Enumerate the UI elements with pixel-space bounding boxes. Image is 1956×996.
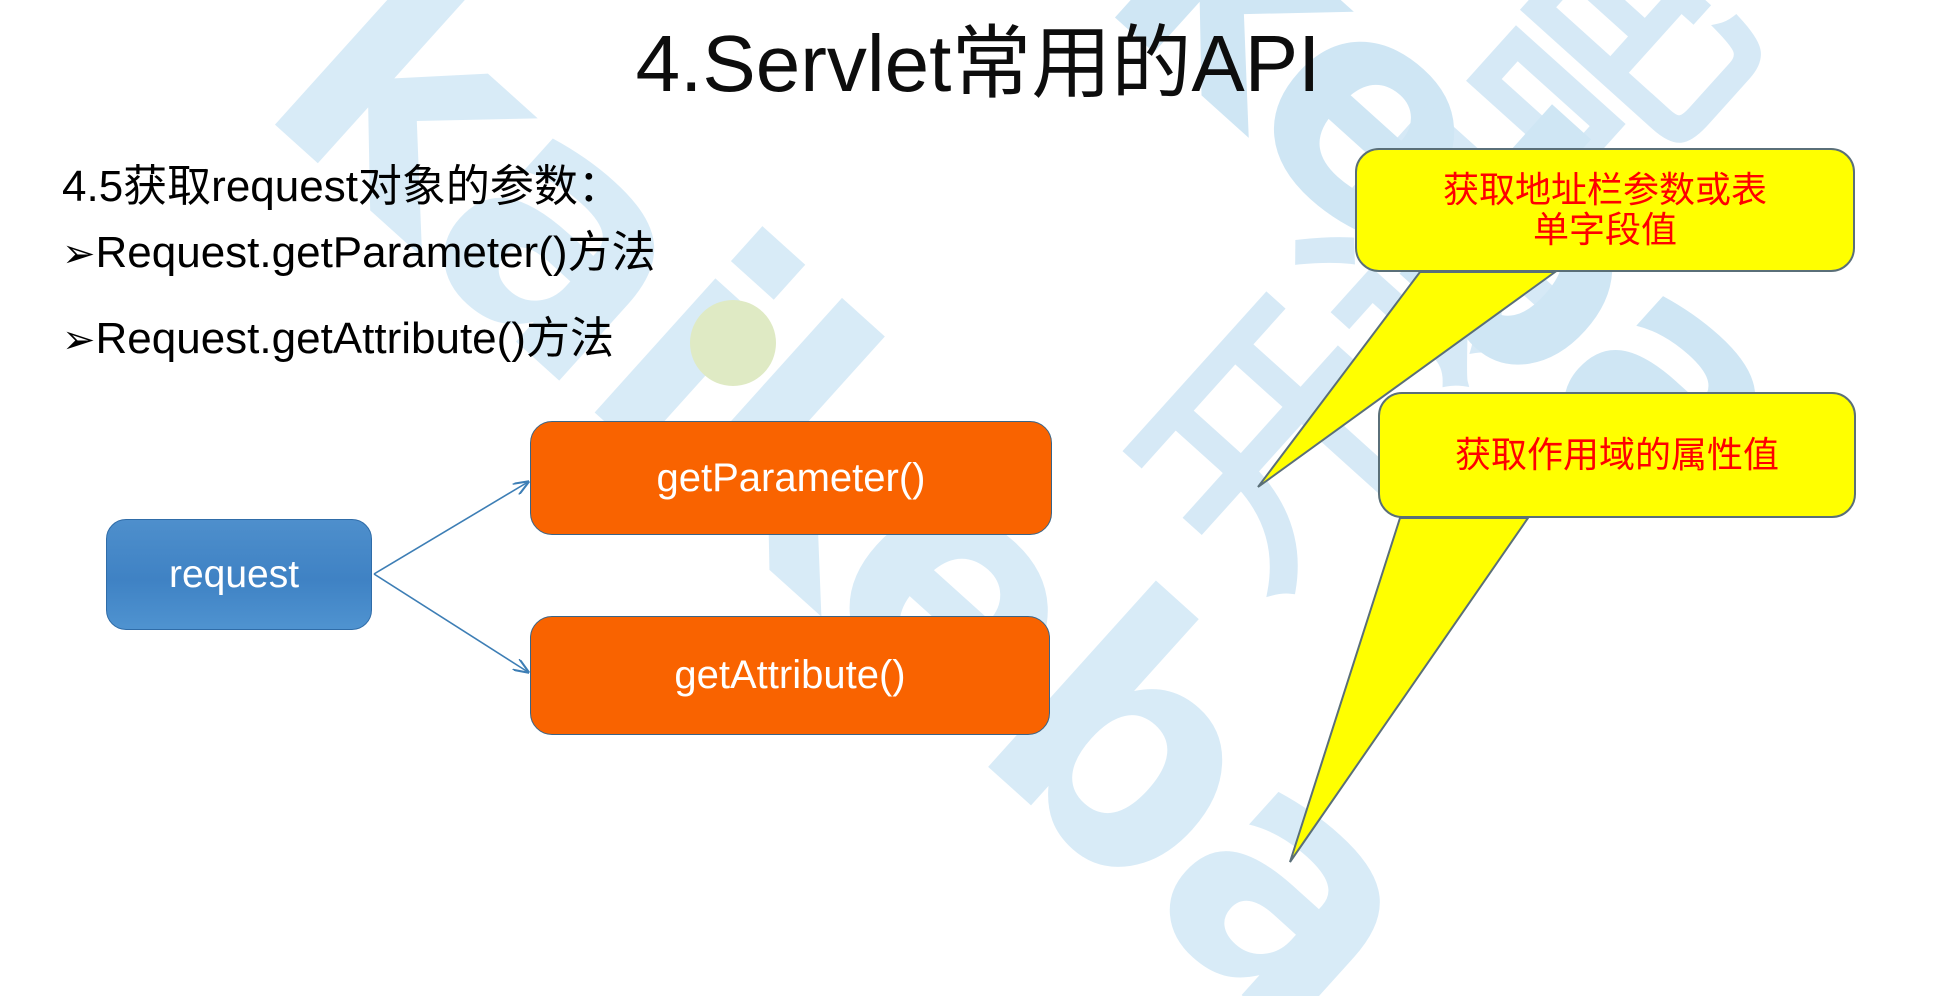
callout-attribute[interactable]: 获取作用域的属性值 [1378,392,1856,518]
callout-parameter[interactable]: 获取地址栏参数或表 单字段值 [1355,148,1855,272]
callout-parameter-text: 获取地址栏参数或表 单字段值 [1443,170,1767,251]
slide-canvas: kaikeba kaikeba 开课吧 4.Servlet常用的API 4.5获… [0,0,1956,996]
callout-parameter-line-1: 获取地址栏参数或表 [1443,170,1767,210]
callout-attribute-text: 获取作用域的属性值 [1455,435,1779,475]
callout-parameter-line-2: 单字段值 [1443,210,1767,250]
callout-attribute-tail [1290,518,1528,862]
callout-attribute-line-1: 获取作用域的属性值 [1455,435,1779,475]
